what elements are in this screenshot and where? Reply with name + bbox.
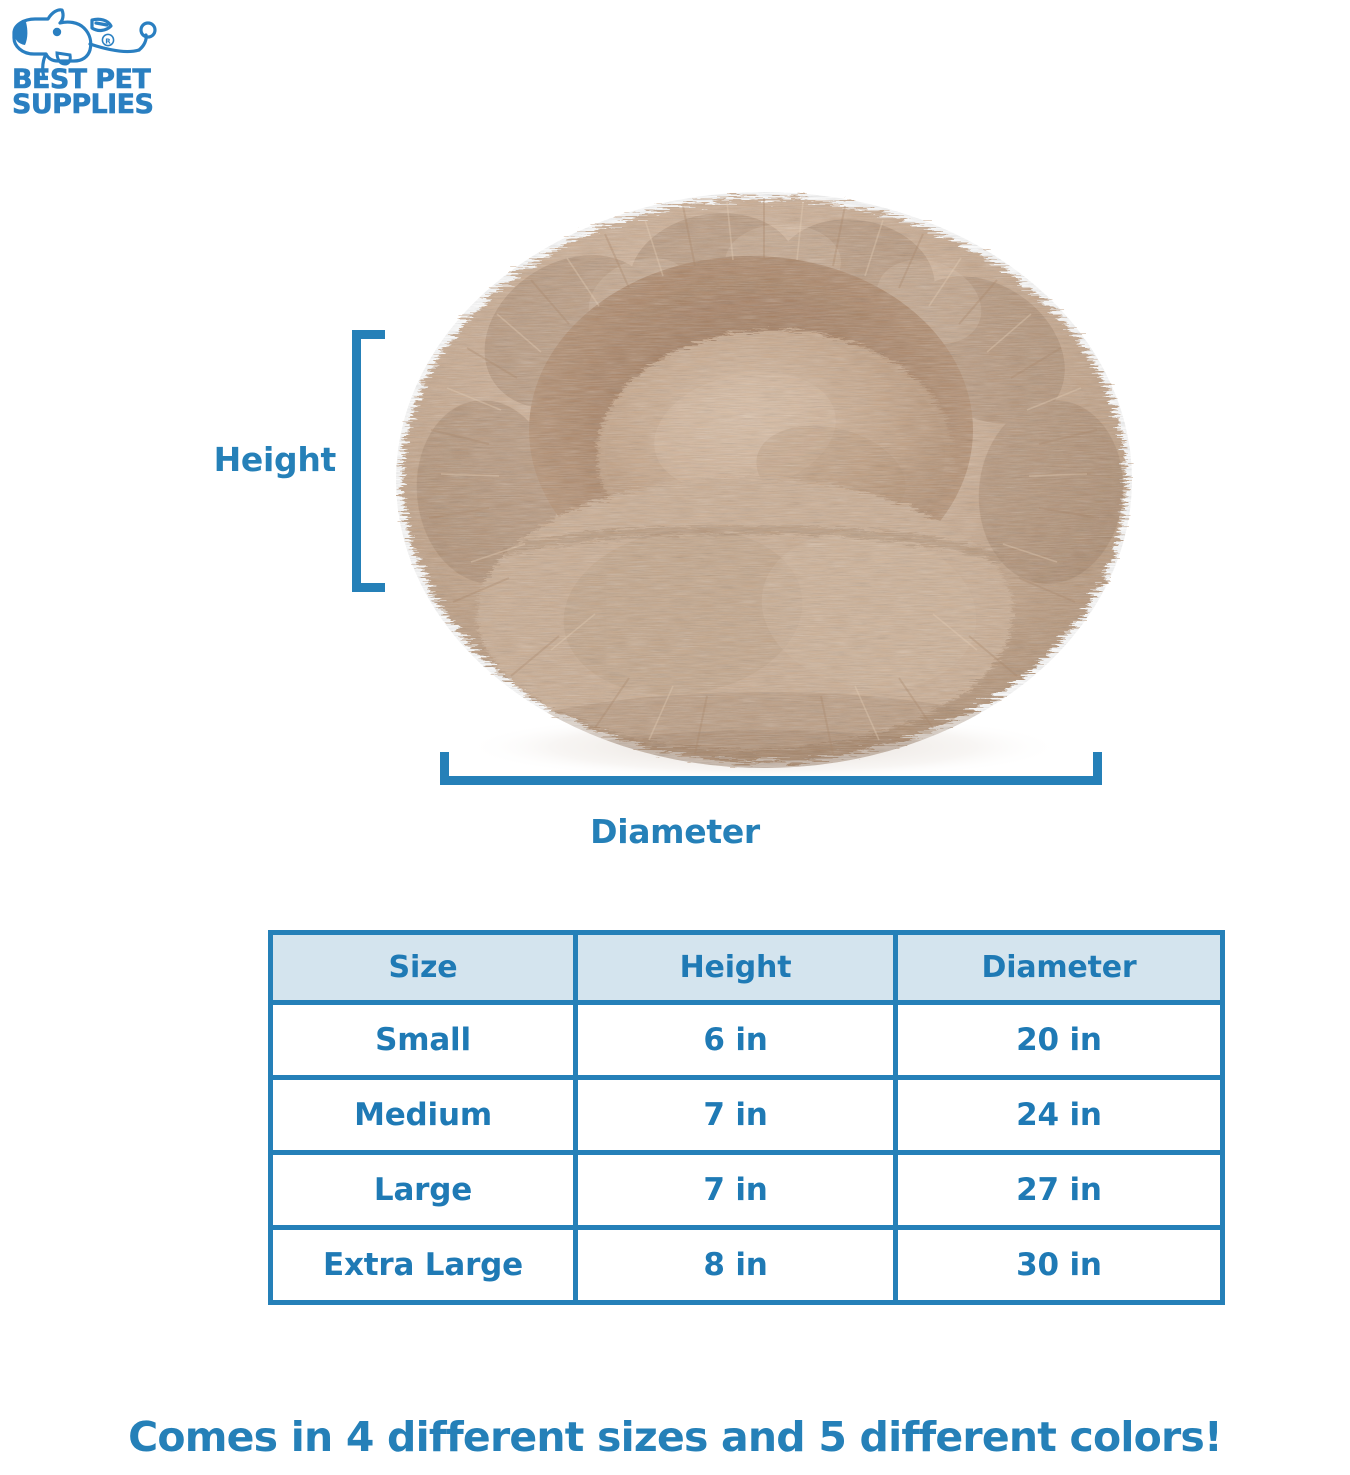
- pet-bed-illustration: [383, 162, 1145, 780]
- diameter-dimension-label: Diameter: [0, 812, 1350, 851]
- height-dimension-bracket: [352, 330, 388, 592]
- height-dimension-label: Height: [186, 440, 336, 479]
- cell-diameter: 30 in: [896, 1228, 1223, 1303]
- cell-size: Extra Large: [271, 1228, 576, 1303]
- column-header-size: Size: [271, 933, 576, 1003]
- table-row: Large 7 in 27 in: [271, 1153, 1223, 1228]
- diameter-bracket-rail: [440, 776, 1102, 785]
- height-bracket-bottom-arm: [352, 583, 385, 592]
- size-chart-table: Size Height Diameter Small 6 in 20 in Me…: [268, 930, 1225, 1305]
- cell-height: 6 in: [576, 1003, 896, 1078]
- diameter-bracket-right-cap: [1093, 752, 1102, 785]
- column-header-height: Height: [576, 933, 896, 1003]
- cell-height: 8 in: [576, 1228, 896, 1303]
- cell-height: 7 in: [576, 1153, 896, 1228]
- height-bracket-stem: [352, 330, 361, 592]
- diameter-dimension-bracket: [440, 752, 1102, 785]
- cell-diameter: 20 in: [896, 1003, 1223, 1078]
- cell-diameter: 24 in: [896, 1078, 1223, 1153]
- svg-text:R: R: [105, 37, 111, 45]
- brand-wordmark: BEST PET SUPPLIES: [12, 68, 162, 118]
- cell-size: Medium: [271, 1078, 576, 1153]
- footer-tagline: Comes in 4 different sizes and 5 differe…: [0, 1413, 1350, 1461]
- cell-diameter: 27 in: [896, 1153, 1223, 1228]
- table-row: Extra Large 8 in 30 in: [271, 1228, 1223, 1303]
- brand-name-line-2: SUPPLIES: [12, 93, 162, 118]
- infographic-page: R BEST PET SUPPLIES: [0, 0, 1350, 1475]
- table-row: Small 6 in 20 in: [271, 1003, 1223, 1078]
- cell-size: Large: [271, 1153, 576, 1228]
- table-row: Medium 7 in 24 in: [271, 1078, 1223, 1153]
- column-header-diameter: Diameter: [896, 933, 1223, 1003]
- table-header-row: Size Height Diameter: [271, 933, 1223, 1003]
- cell-size: Small: [271, 1003, 576, 1078]
- brand-logo: R BEST PET SUPPLIES: [8, 6, 168, 131]
- product-image-pet-bed: [383, 162, 1145, 780]
- cell-height: 7 in: [576, 1078, 896, 1153]
